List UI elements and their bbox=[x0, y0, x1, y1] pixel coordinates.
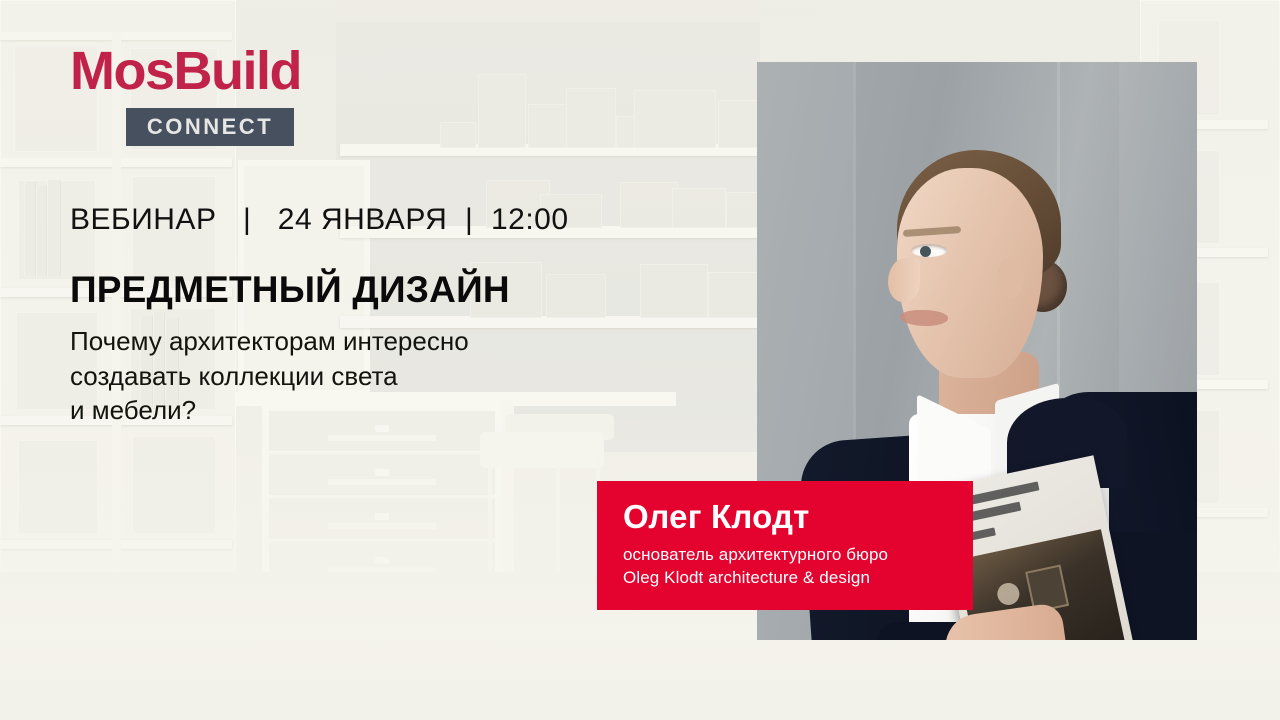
speaker-role: основатель архитектурного бюро Oleg Klod… bbox=[623, 543, 973, 590]
mosbuild-logo[interactable]: MosBuild CONNECT bbox=[70, 44, 301, 146]
book-cover-lamp bbox=[995, 581, 1021, 607]
speaker-name: Олег Клодт bbox=[623, 499, 973, 535]
webinar-announcement-slide: MosBuild CONNECT ВЕБИНАР | 24 ЯНВАРЯ | 1… bbox=[0, 0, 1280, 720]
connect-badge: CONNECT bbox=[126, 108, 294, 146]
event-meta-line: ВЕБИНАР | 24 ЯНВАРЯ | 12:00 bbox=[70, 203, 569, 237]
connect-badge-label: CONNECT bbox=[147, 116, 273, 138]
page-title: ПРЕДМЕТНЫЙ ДИЗАЙН bbox=[70, 269, 510, 311]
logo-wordmark: MosBuild bbox=[70, 44, 301, 98]
portrait-pupil bbox=[920, 246, 931, 257]
event-subheadline: Почему архитекторам интересно создавать … bbox=[70, 324, 469, 428]
portrait-nose bbox=[888, 258, 920, 302]
speaker-info-card: Олег Клодт основатель архитектурного бюр… bbox=[597, 481, 973, 610]
portrait-ear bbox=[997, 258, 1024, 298]
